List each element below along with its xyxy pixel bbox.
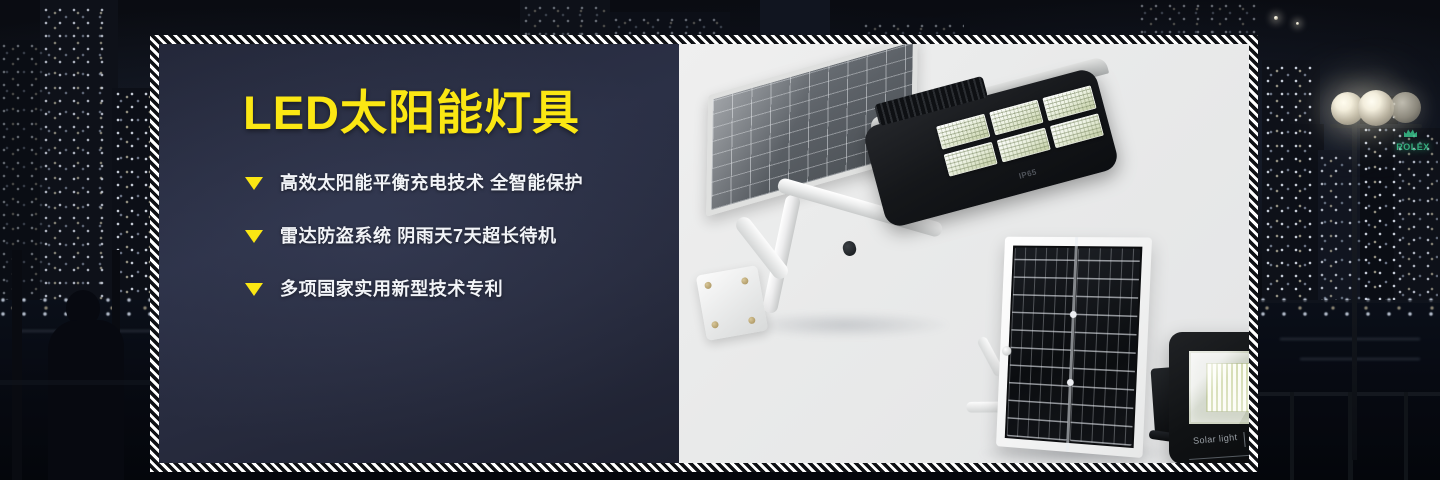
hatched-frame-border: LED太阳能灯具 高效太阳能平衡充电技术 全智能保护 雷达防盗系统 阴雨天7天超… bbox=[150, 35, 1258, 472]
bolt-icon bbox=[704, 281, 712, 289]
solar-flood-light-image: Solar light 100W IP67 bbox=[1169, 332, 1249, 463]
bolt-icon bbox=[711, 321, 719, 329]
foreground-pole bbox=[12, 250, 22, 480]
product-showcase-panel: IP65 bbox=[679, 44, 1249, 463]
product-shadow bbox=[739, 312, 949, 338]
feature-text: 多项国家实用新型技术专利 bbox=[280, 275, 503, 301]
railing-post bbox=[1404, 392, 1408, 480]
antenna-light bbox=[1274, 16, 1278, 20]
feature-text: 雷达防盗系统 阴雨天7天超长待机 bbox=[280, 222, 557, 248]
feature-list: 高效太阳能平衡充电技术 全智能保护 雷达防盗系统 阴雨天7天超长待机 多项国家实… bbox=[245, 169, 583, 328]
railing-bar bbox=[0, 380, 150, 385]
street-light-wall-bracket bbox=[696, 265, 769, 341]
bolt-icon bbox=[741, 277, 749, 285]
railing-post bbox=[1290, 392, 1294, 480]
feature-text: 高效太阳能平衡充电技术 全智能保护 bbox=[280, 169, 583, 195]
railing-bar bbox=[1258, 300, 1440, 303]
bolt-icon bbox=[748, 316, 756, 324]
lamp-globe-icon bbox=[1390, 92, 1421, 123]
list-item: 高效太阳能平衡充电技术 全智能保护 bbox=[245, 169, 583, 195]
list-item: 雷达防盗系统 阴雨天7天超长待机 bbox=[245, 222, 583, 248]
banner-stage: ROLEX LED太阳能灯具 高效太阳能平衡充电技术 全智能保护 雷达防盗系统 … bbox=[0, 0, 1440, 480]
list-item: 多项国家实用新型技术专利 bbox=[245, 275, 583, 301]
window-lights bbox=[2, 44, 44, 334]
brand-text: Solar light bbox=[1193, 432, 1238, 446]
water-reflection bbox=[1280, 338, 1420, 340]
water-reflection bbox=[1300, 358, 1420, 360]
headline-panel: LED太阳能灯具 高效太阳能平衡充电技术 全智能保护 雷达防盗系统 阴雨天7天超… bbox=[159, 44, 679, 463]
cell-column bbox=[1007, 248, 1075, 441]
antenna-light bbox=[1296, 22, 1299, 25]
flood-light-lens bbox=[1189, 351, 1249, 424]
triangle-down-icon bbox=[245, 283, 263, 296]
rolex-neon-sign: ROLEX bbox=[1391, 137, 1435, 157]
triangle-down-icon bbox=[245, 230, 263, 243]
lamp-pole bbox=[1352, 120, 1357, 460]
content-panel: LED太阳能灯具 高效太阳能平衡充电技术 全智能保护 雷达防盗系统 阴雨天7天超… bbox=[159, 44, 1249, 463]
page-title: LED太阳能灯具 bbox=[243, 74, 580, 143]
standalone-solar-panel-image bbox=[996, 237, 1152, 458]
person-silhouette-body bbox=[48, 320, 124, 480]
flood-light-label: Solar light 100W IP67 bbox=[1193, 428, 1249, 450]
radar-sensor-icon bbox=[841, 240, 857, 258]
lamp-globe-icon bbox=[1358, 90, 1394, 126]
label-divider-icon bbox=[1244, 431, 1246, 446]
triangle-down-icon bbox=[245, 177, 263, 190]
cell-column bbox=[1069, 248, 1140, 446]
